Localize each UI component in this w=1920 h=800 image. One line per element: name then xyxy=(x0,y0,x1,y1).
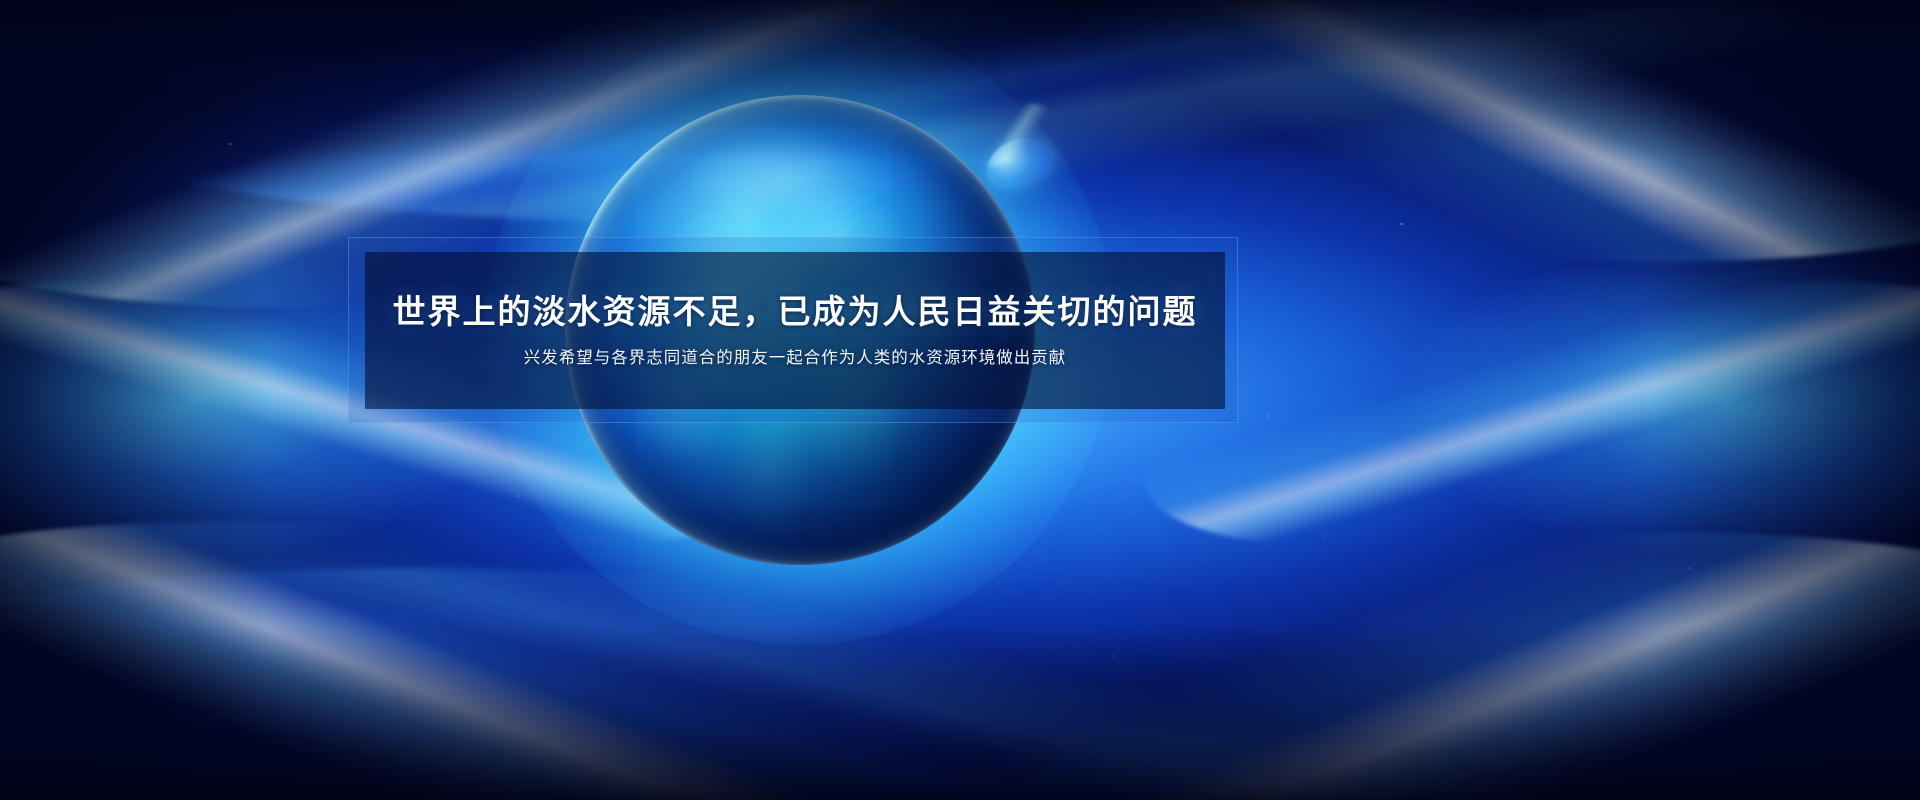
banner-subtitle: 兴发希望与各界志同道合的朋友一起合作为人类的水资源环境做出贡献 xyxy=(524,349,1067,369)
hero-banner: 世界上的淡水资源不足，已成为人民日益关切的问题 兴发希望与各界志同道合的朋友一起… xyxy=(0,0,1920,800)
banner-headline: 世界上的淡水资源不足，已成为人民日益关切的问题 xyxy=(393,292,1198,332)
banner-text-block: 世界上的淡水资源不足，已成为人民日益关切的问题 兴发希望与各界志同道合的朋友一起… xyxy=(365,252,1225,409)
